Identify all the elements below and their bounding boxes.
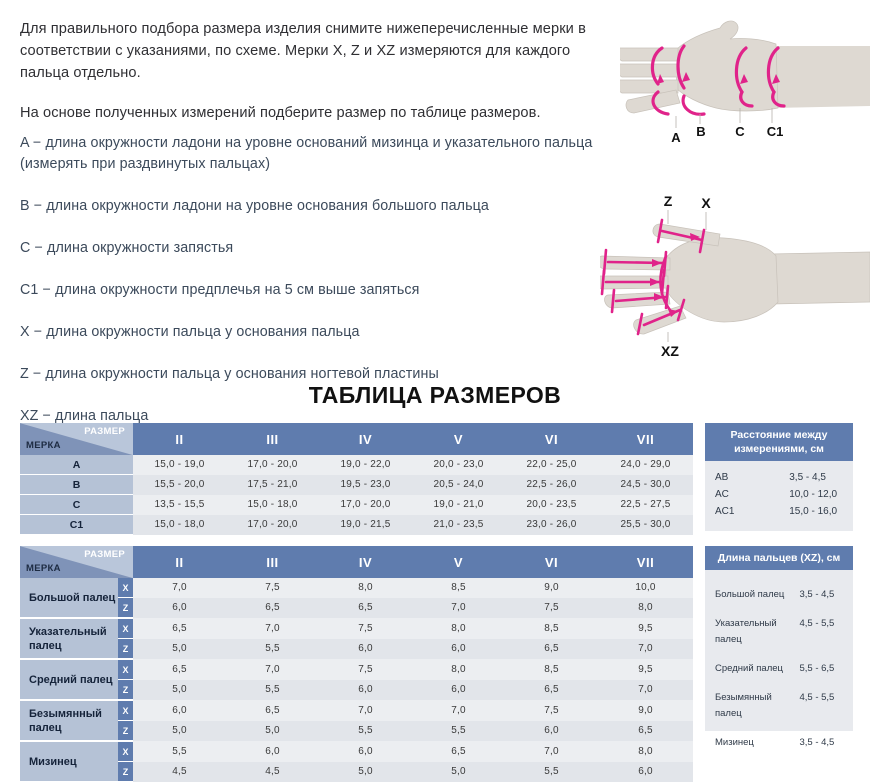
table-cell: 8,0 — [412, 618, 505, 639]
sub-label-x: X — [118, 659, 133, 680]
table-cell: 8,5 — [505, 618, 598, 639]
diagram-labels: A B C C1 — [671, 124, 783, 145]
list-item: AC 10,0 - 12,0 — [705, 486, 853, 503]
sub-label-z: Z — [118, 680, 133, 701]
distance-value: 3,5 - 4,5 — [789, 469, 843, 486]
sub-label-x: X — [118, 741, 133, 762]
table-1-size-header-vi: VI — [505, 423, 598, 455]
table-cell: 17,0 - 20,0 — [226, 515, 319, 535]
table-cell: 6,0 — [319, 680, 412, 701]
table-1-size-header-iv: IV — [319, 423, 412, 455]
table-row: Z 6,0 6,5 6,5 7,0 7,5 8,0 — [20, 598, 693, 619]
size-table-1-wrap: МЕРКА РАЗМЕР II III IV V VI VII A 15,0 -… — [20, 423, 693, 535]
table-row: Z 5,0 5,5 6,0 6,0 6,5 7,0 — [20, 639, 693, 660]
finger-label: Мизинец — [20, 741, 118, 782]
table-cell: 23,0 - 26,0 — [505, 515, 598, 535]
table-2-corner-cell: МЕРКА РАЗМЕР — [20, 546, 133, 578]
table-cell: 19,0 - 21,0 — [412, 495, 505, 515]
table-cell: 6,5 — [133, 618, 226, 639]
table-cell: 7,0 — [598, 639, 693, 660]
measurement-item-x: X − длина окружности пальца у основания … — [20, 322, 610, 343]
hand-side-view-svg: A B C C1 — [620, 8, 870, 153]
table-1-size-header-iii: III — [226, 423, 319, 455]
table-cell: 6,0 — [598, 762, 693, 783]
table-cell: 5,0 — [319, 762, 412, 783]
list-item: Указательный палец 4,5 - 5,5 — [705, 616, 853, 648]
table-cell: 17,0 - 20,0 — [319, 495, 412, 515]
table-cell: 8,0 — [412, 659, 505, 680]
table-cell: 6,5 — [505, 680, 598, 701]
table-cell: 5,5 — [505, 762, 598, 783]
table-cell: 6,5 — [598, 721, 693, 742]
intro-paragraph-1: Для правильного подбора размера изделия … — [20, 18, 605, 84]
table-cell: 6,5 — [226, 598, 319, 619]
list-item: Большой палец 3,5 - 4,5 — [705, 587, 853, 603]
table-cell: 15,0 - 18,0 — [226, 495, 319, 515]
table-cell: 6,5 — [505, 639, 598, 660]
table-row: Безымянный палец X 6,0 6,5 7,0 7,0 7,5 9… — [20, 700, 693, 721]
table-cell: 15,0 - 18,0 — [133, 515, 226, 535]
table-cell: 25,5 - 30,0 — [598, 515, 693, 535]
table-cell: 6,5 — [319, 598, 412, 619]
table-cell: 22,5 - 26,0 — [505, 475, 598, 495]
finger-length-value: 3,5 - 4,5 — [799, 735, 843, 751]
sub-label-z: Z — [118, 598, 133, 619]
table-cell: 5,0 — [412, 762, 505, 783]
list-item: Средний палец 5,5 - 6,5 — [705, 661, 853, 677]
table-cell: 15,0 - 19,0 — [133, 455, 226, 475]
table-cell: 7,0 — [226, 659, 319, 680]
table-row: Z 5,0 5,0 5,5 5,5 6,0 6,5 — [20, 721, 693, 742]
table-cell: 7,0 — [226, 618, 319, 639]
distance-key: AC — [715, 486, 789, 503]
table-row: Большой палец X 7,0 7,5 8,0 8,5 9,0 10,0 — [20, 578, 693, 598]
table-cell: 10,0 — [598, 578, 693, 598]
sub-label-x: X — [118, 700, 133, 721]
page-title: ТАБЛИЦА РАЗМЕРОВ — [0, 382, 870, 409]
finger-length-value: 3,5 - 4,5 — [799, 587, 843, 603]
table-2-size-header-vii: VII — [598, 546, 693, 578]
distance-panel: Расстояние между измерениями, см AB 3,5 … — [705, 423, 853, 531]
table-row: Средний палец X 6,5 7,0 7,5 8,0 8,5 9,5 — [20, 659, 693, 680]
corner-row-label: МЕРКА — [26, 563, 61, 574]
finger-label: Средний палец — [20, 659, 118, 700]
table-1-row-label: B — [20, 475, 133, 495]
table-cell: 6,0 — [319, 639, 412, 660]
intro-text-block: Для правильного подбора размера изделия … — [20, 18, 605, 142]
table-row: Мизинец X 5,5 6,0 6,0 6,5 7,0 8,0 — [20, 741, 693, 762]
table-cell: 5,5 — [412, 721, 505, 742]
table-cell: 7,5 — [505, 700, 598, 721]
size-table-2-wrap: МЕРКА РАЗМЕР II III IV V VI VII Большой … — [20, 546, 693, 783]
diagram-label-a: A — [671, 130, 681, 145]
table-cell: 6,0 — [319, 741, 412, 762]
measurement-item-a: A − длина окружности ладони на уровне ос… — [20, 133, 610, 175]
table-cell: 24,5 - 30,0 — [598, 475, 693, 495]
distance-key: AC1 — [715, 503, 789, 520]
table-1-size-header-ii: II — [133, 423, 226, 455]
table-cell: 19,0 - 21,5 — [319, 515, 412, 535]
finger-label: Большой палец — [20, 578, 118, 618]
table-1-row-label: C — [20, 495, 133, 515]
distance-value: 15,0 - 16,0 — [789, 503, 843, 520]
diagram-label-c: C — [735, 124, 745, 139]
measurement-item-b: B − длина окружности ладони на уровне ос… — [20, 196, 610, 217]
distance-panel-title: Расстояние между измерениями, см — [705, 423, 853, 461]
table-cell: 6,0 — [133, 598, 226, 619]
finger-length-value: 4,5 - 5,5 — [799, 690, 843, 722]
hand-side-view-diagram: A B C C1 — [620, 8, 870, 153]
corner-col-label: РАЗМЕР — [84, 549, 125, 560]
table-cell: 5,5 — [226, 680, 319, 701]
table-cell: 5,5 — [226, 639, 319, 660]
table-1-header-row: МЕРКА РАЗМЕР II III IV V VI VII — [20, 423, 693, 455]
table-cell: 6,0 — [133, 700, 226, 721]
table-cell: 20,0 - 23,5 — [505, 495, 598, 515]
finger-length-key: Большой палец — [715, 587, 799, 603]
table-2-size-header-vi: VI — [505, 546, 598, 578]
table-1-row-label: A — [20, 455, 133, 475]
sub-label-z: Z — [118, 721, 133, 742]
table-2-size-header-iii: III — [226, 546, 319, 578]
table-1-size-header-vii: VII — [598, 423, 693, 455]
table-cell: 9,0 — [505, 578, 598, 598]
table-cell: 6,0 — [505, 721, 598, 742]
table-cell: 5,0 — [133, 721, 226, 742]
table-cell: 9,0 — [598, 700, 693, 721]
table-cell: 20,0 - 23,0 — [412, 455, 505, 475]
finger-length-key: Указательный палец — [715, 616, 799, 648]
list-item: Мизинец 3,5 - 4,5 — [705, 735, 853, 751]
table-cell: 19,0 - 22,0 — [319, 455, 412, 475]
distance-value: 10,0 - 12,0 — [789, 486, 843, 503]
table-cell: 7,5 — [319, 659, 412, 680]
list-item: Безымянный палец 4,5 - 5,5 — [705, 690, 853, 722]
table-cell: 8,0 — [319, 578, 412, 598]
hand-palm-view-svg: Z X XZ — [600, 182, 870, 367]
table-cell: 8,0 — [598, 598, 693, 619]
list-item: AC1 15,0 - 16,0 — [705, 503, 853, 520]
finger-length-panel-body: Большой палец 3,5 - 4,5 Указательный пал… — [705, 570, 853, 751]
sub-label-z: Z — [118, 639, 133, 660]
table-2-header-row: МЕРКА РАЗМЕР II III IV V VI VII — [20, 546, 693, 578]
table-row: Z 4,5 4,5 5,0 5,0 5,5 6,0 — [20, 762, 693, 783]
table-cell: 6,0 — [226, 741, 319, 762]
diagram-label-z: Z — [664, 193, 673, 209]
diagram-label-xz: XZ — [661, 343, 679, 359]
table-row: C1 15,0 - 18,0 17,0 - 20,0 19,0 - 21,5 2… — [20, 515, 693, 535]
finger-length-panel: Длина пальцев (XZ), см Большой палец 3,5… — [705, 546, 853, 731]
table-cell: 22,5 - 27,5 — [598, 495, 693, 515]
table-cell: 4,5 — [133, 762, 226, 783]
finger-label: Безымянный палец — [20, 700, 118, 741]
table-row: Указательный палец X 6,5 7,0 7,5 8,0 8,5… — [20, 618, 693, 639]
table-cell: 5,5 — [133, 741, 226, 762]
table-cell: 15,5 - 20,0 — [133, 475, 226, 495]
finger-length-value: 4,5 - 5,5 — [799, 616, 843, 648]
table-row: C 13,5 - 15,5 15,0 - 18,0 17,0 - 20,0 19… — [20, 495, 693, 515]
finger-label: Указательный палец — [20, 618, 118, 659]
table-2-size-header-v: V — [412, 546, 505, 578]
table-cell: 6,0 — [412, 680, 505, 701]
size-table-1: МЕРКА РАЗМЕР II III IV V VI VII A 15,0 -… — [20, 423, 693, 535]
table-cell: 20,5 - 24,0 — [412, 475, 505, 495]
intro-paragraph-2: На основе полученных измерений подберите… — [20, 102, 605, 124]
table-row: B 15,5 - 20,0 17,5 - 21,0 19,5 - 23,0 20… — [20, 475, 693, 495]
table-2-size-header-iv: IV — [319, 546, 412, 578]
hand-palm-view-diagram: Z X XZ — [600, 182, 870, 367]
corner-row-label: МЕРКА — [26, 440, 61, 451]
table-cell: 21,0 - 23,5 — [412, 515, 505, 535]
table-cell: 7,0 — [412, 598, 505, 619]
diagram-label-c1: C1 — [767, 124, 784, 139]
table-cell: 9,5 — [598, 618, 693, 639]
table-row: A 15,0 - 19,0 17,0 - 20,0 19,0 - 22,0 20… — [20, 455, 693, 475]
table-cell: 8,5 — [412, 578, 505, 598]
table-cell: 19,5 - 23,0 — [319, 475, 412, 495]
table-cell: 7,0 — [133, 578, 226, 598]
table-1-size-header-v: V — [412, 423, 505, 455]
measurement-item-c1: C1 − длина окружности предплечья на 5 см… — [20, 280, 610, 301]
sub-label-x: X — [118, 578, 133, 598]
table-cell: 13,5 - 15,5 — [133, 495, 226, 515]
table-cell: 4,5 — [226, 762, 319, 783]
table-cell: 8,0 — [598, 741, 693, 762]
table-cell: 5,0 — [133, 680, 226, 701]
diagram-label-x: X — [701, 195, 711, 211]
table-2-size-header-ii: II — [133, 546, 226, 578]
list-item: AB 3,5 - 4,5 — [705, 469, 853, 486]
size-table-2: МЕРКА РАЗМЕР II III IV V VI VII Большой … — [20, 546, 693, 783]
table-cell: 9,5 — [598, 659, 693, 680]
table-cell: 7,0 — [412, 700, 505, 721]
table-cell: 5,0 — [133, 639, 226, 660]
table-cell: 6,0 — [412, 639, 505, 660]
table-cell: 17,5 - 21,0 — [226, 475, 319, 495]
distance-key: AB — [715, 469, 789, 486]
table-cell: 5,0 — [226, 721, 319, 742]
sub-label-x: X — [118, 618, 133, 639]
table-cell: 7,5 — [505, 598, 598, 619]
hand-shape — [620, 21, 870, 113]
table-cell: 22,0 - 25,0 — [505, 455, 598, 475]
table-row: Z 5,0 5,5 6,0 6,0 6,5 7,0 — [20, 680, 693, 701]
finger-length-key: Безымянный палец — [715, 690, 799, 722]
sub-label-z: Z — [118, 762, 133, 783]
table-cell: 17,0 - 20,0 — [226, 455, 319, 475]
table-1-corner-cell: МЕРКА РАЗМЕР — [20, 423, 133, 455]
table-1-row-label: C1 — [20, 515, 133, 535]
finger-length-key: Мизинец — [715, 735, 799, 751]
table-cell: 7,0 — [319, 700, 412, 721]
measurement-item-c: C − длина окружности запястья — [20, 238, 610, 259]
table-cell: 5,5 — [319, 721, 412, 742]
table-cell: 6,5 — [133, 659, 226, 680]
finger-length-key: Средний палец — [715, 661, 799, 677]
corner-col-label: РАЗМЕР — [84, 426, 125, 437]
table-cell: 24,0 - 29,0 — [598, 455, 693, 475]
table-cell: 7,5 — [226, 578, 319, 598]
table-cell: 7,0 — [505, 741, 598, 762]
table-cell: 7,0 — [598, 680, 693, 701]
finger-length-panel-title: Длина пальцев (XZ), см — [705, 546, 853, 570]
table-cell: 7,5 — [319, 618, 412, 639]
table-cell: 6,5 — [412, 741, 505, 762]
finger-length-value: 5,5 - 6,5 — [799, 661, 843, 677]
distance-panel-body: AB 3,5 - 4,5 AC 10,0 - 12,0 AC1 15,0 - 1… — [705, 461, 853, 520]
table-cell: 6,5 — [226, 700, 319, 721]
table-cell: 8,5 — [505, 659, 598, 680]
diagram-label-b: B — [696, 124, 705, 139]
